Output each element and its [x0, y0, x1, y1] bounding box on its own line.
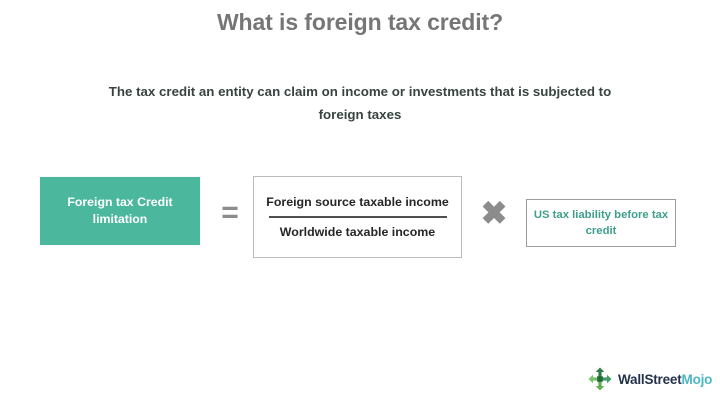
wallstreetmojo-wordmark: WallStreetMojo [618, 372, 712, 387]
foreign-tax-credit-limitation-label: Foreign tax Credit limitation [40, 194, 200, 228]
slide-canvas: What is foreign tax credit? The tax cred… [0, 0, 720, 403]
fraction-numerator: Foreign source taxable income [266, 195, 448, 216]
multiply-icon: ✖ [470, 197, 518, 229]
formula-diagram: Foreign tax Credit limitation = Foreign … [0, 170, 720, 260]
us-tax-liability-label: US tax liability before tax credit [527, 207, 675, 239]
fraction-denominator: Worldwide taxable income [280, 218, 435, 239]
foreign-tax-credit-limitation-box: Foreign tax Credit limitation [40, 177, 200, 245]
four-arrow-cross-icon [588, 367, 612, 391]
fraction-box: Foreign source taxable income Worldwide … [253, 176, 462, 258]
equals-icon: = [206, 198, 254, 228]
logo-word-wallstreet: WallStreet [618, 372, 682, 387]
us-tax-liability-box: US tax liability before tax credit [526, 199, 676, 247]
wallstreetmojo-logo: WallStreetMojo [588, 366, 712, 392]
logo-word-mojo: Mojo [682, 372, 713, 387]
slide-subtitle: The tax credit an entity can claim on in… [100, 80, 620, 126]
page-title: What is foreign tax credit? [0, 9, 720, 36]
